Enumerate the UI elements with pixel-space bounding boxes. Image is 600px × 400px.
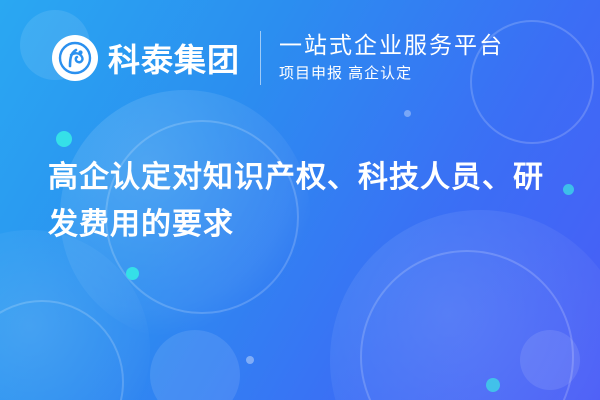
header-divider [260,31,261,85]
accent-dot-6 [404,110,411,117]
accent-dot-4 [486,378,500,392]
promo-banner: 科泰集团 一站式企业服务平台 项目申报 高企认定 高企认定对知识产权、科技人员、… [0,0,600,400]
background-bubble-bottomright [520,330,580,390]
banner-header: 科泰集团 一站式企业服务平台 项目申报 高企认定 [52,26,504,90]
background-bubble-bottom [150,330,240,400]
circular-globe-logo-icon [52,35,98,81]
slogan-block: 一站式企业服务平台 项目申报 高企认定 [279,31,504,85]
banner-title: 高企认定对知识产权、科技人员、研发费用的要求 [48,155,558,248]
brand-name: 科泰集团 [108,35,240,81]
accent-dot-3 [563,184,574,195]
background-ring-2 [360,250,574,400]
slogan-main: 一站式企业服务平台 [279,31,504,60]
accent-dot-1 [56,131,72,147]
brand-logo: 科泰集团 [52,35,240,81]
background-circle-large-bottom-left [0,230,150,400]
background-ring-3 [0,300,124,400]
accent-dot-5 [246,356,254,364]
slogan-sub: 项目申报 高企认定 [279,63,504,86]
accent-dot-2 [126,267,139,280]
